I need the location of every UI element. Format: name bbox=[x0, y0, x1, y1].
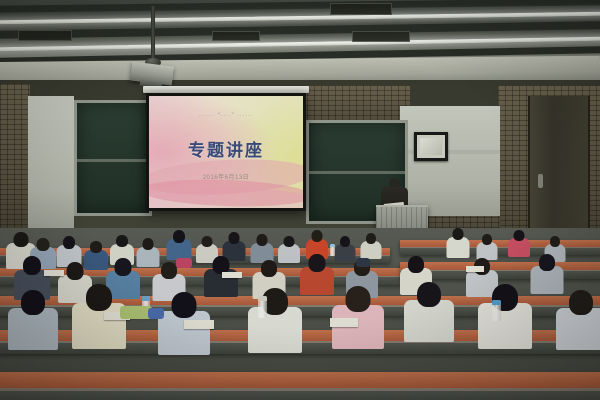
audience-head bbox=[482, 234, 492, 245]
audience-head bbox=[256, 234, 267, 246]
desk-row bbox=[400, 240, 600, 255]
chalkboard-rail bbox=[309, 171, 405, 174]
presentation-slide: ······ “····” ······ 专题讲座 2016年6月13日 bbox=[149, 96, 303, 208]
audience-head bbox=[67, 262, 84, 280]
audience-head bbox=[261, 260, 277, 277]
audience-head bbox=[173, 230, 185, 243]
audience-head bbox=[14, 232, 29, 247]
notebook-paper bbox=[44, 270, 64, 276]
bottle-cap bbox=[258, 296, 267, 301]
audience-head bbox=[346, 286, 371, 312]
audience-head bbox=[408, 256, 424, 273]
wall-panel-left bbox=[28, 96, 74, 228]
audience-head bbox=[142, 238, 153, 250]
slide-title: 专题讲座 bbox=[149, 136, 303, 161]
audience-member bbox=[300, 254, 334, 300]
slide-date: 2016年6月13日 bbox=[149, 172, 303, 181]
audience-head bbox=[514, 230, 525, 241]
audience-head bbox=[86, 284, 112, 311]
audience-head bbox=[366, 233, 376, 244]
projector-mount-pole bbox=[151, 6, 155, 62]
chalkboard-rail bbox=[77, 159, 149, 162]
audience-member bbox=[508, 230, 530, 260]
audience-head bbox=[172, 292, 197, 318]
bottle-cap bbox=[330, 244, 335, 247]
ceiling-vent bbox=[18, 30, 72, 41]
audience-head bbox=[309, 254, 326, 272]
ceiling-beam bbox=[0, 21, 600, 39]
projection-screen: ······ “····” ······ 专题讲座 2016年6月13日 bbox=[146, 93, 306, 211]
audience-member bbox=[72, 284, 126, 357]
notebook-paper bbox=[466, 266, 484, 272]
chalkboard-left bbox=[74, 100, 152, 216]
bag-item bbox=[356, 258, 370, 267]
audience-member bbox=[446, 228, 469, 261]
audience-head bbox=[63, 236, 75, 249]
desk-front-panel bbox=[400, 248, 600, 255]
wall-panel-right bbox=[400, 106, 500, 216]
audience-head bbox=[284, 236, 295, 247]
desk-row bbox=[0, 372, 600, 400]
audience-member bbox=[8, 290, 58, 357]
audience-head bbox=[115, 258, 132, 276]
screen-roller-case bbox=[143, 86, 309, 93]
audience-head bbox=[312, 230, 323, 242]
audience-head bbox=[539, 254, 555, 271]
audience-head bbox=[23, 256, 41, 275]
water-bottle bbox=[258, 296, 267, 318]
audience-member bbox=[556, 290, 600, 357]
desk-surface bbox=[0, 372, 600, 388]
ceiling-beam bbox=[0, 0, 600, 13]
audience-head bbox=[116, 235, 128, 247]
notebook-paper bbox=[184, 320, 214, 329]
ceiling-vent bbox=[352, 31, 410, 42]
audience-head bbox=[569, 290, 593, 315]
bottle-cap bbox=[492, 300, 501, 305]
framed-picture-icon bbox=[414, 132, 448, 161]
audience-head bbox=[21, 290, 45, 315]
slide-subtitle: ······ “····” ······ bbox=[149, 112, 303, 119]
audience-head bbox=[228, 232, 239, 244]
audience-head bbox=[161, 262, 177, 279]
door-handle[interactable] bbox=[538, 174, 543, 188]
audience-head bbox=[452, 228, 463, 240]
audience-head bbox=[202, 236, 213, 247]
audience-member bbox=[478, 284, 532, 357]
audience-member bbox=[248, 288, 302, 361]
notebook-paper bbox=[330, 318, 358, 327]
audience-head bbox=[340, 236, 350, 247]
bottle-cap bbox=[142, 296, 150, 301]
audience-head bbox=[90, 241, 102, 253]
water-bottle bbox=[330, 244, 335, 256]
bag-item bbox=[176, 258, 192, 268]
desk-front-panel bbox=[0, 391, 600, 400]
ceiling-vent bbox=[212, 31, 260, 41]
notebook-paper bbox=[222, 272, 242, 278]
classroom-door[interactable] bbox=[528, 96, 590, 236]
audience-head bbox=[550, 236, 560, 247]
water-bottle bbox=[492, 300, 501, 321]
audience-head bbox=[417, 282, 441, 307]
lecture-hall-photo: ······ “····” ······ 专题讲座 2016年6月13日 bbox=[0, 0, 600, 400]
ceiling-vent bbox=[330, 3, 392, 15]
tiled-wall-left bbox=[0, 84, 30, 230]
desk-surface bbox=[400, 240, 600, 247]
audience-member bbox=[404, 282, 454, 349]
audience-head bbox=[37, 238, 50, 251]
bag-item bbox=[148, 308, 164, 319]
